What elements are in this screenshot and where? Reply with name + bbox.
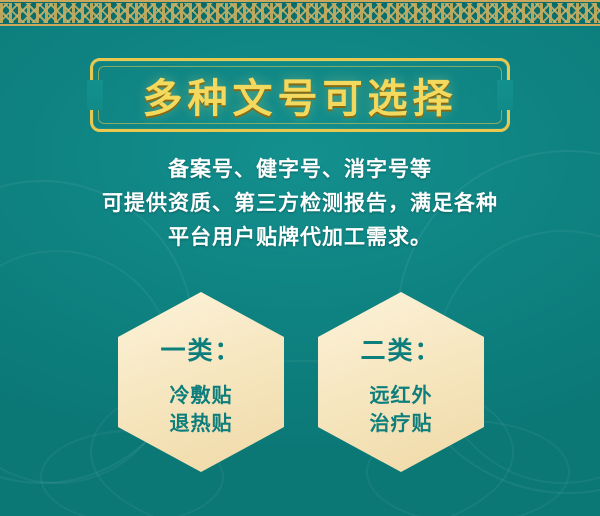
category-card-1-heading: 一类： [160, 331, 241, 367]
category-card-2-item-2: 治疗贴 [370, 409, 433, 437]
category-card-2-heading: 二类： [360, 331, 441, 367]
description-line-3: 平台用户贴牌代加工需求。 [0, 220, 600, 254]
category-card-1-items: 冷敷贴 退热贴 [170, 381, 233, 437]
description-line-2: 可提供资质、第三方检测报告，满足各种 [0, 186, 600, 220]
category-hexagon-row: 一类： 冷敷贴 退热贴 二类： 远红外 治疗贴 [0, 292, 600, 472]
category-card-1-item-2: 退热贴 [170, 409, 233, 437]
poster-canvas: 多种文号可选择 备案号、健字号、消字号等 可提供资质、第三方检测报告，满足各种 … [0, 0, 600, 516]
description-block: 备案号、健字号、消字号等 可提供资质、第三方检测报告，满足各种 平台用户贴牌代加… [0, 152, 600, 254]
border-edge-line [0, 24, 600, 26]
category-card-1: 一类： 冷敷贴 退热贴 [118, 292, 284, 472]
border-weave-pattern [0, 3, 600, 23]
page-title: 多种文号可选择 [90, 58, 510, 132]
description-line-1: 备案号、健字号、消字号等 [0, 152, 600, 186]
category-card-2-item-1: 远红外 [370, 381, 433, 409]
title-plate: 多种文号可选择 [90, 58, 510, 132]
border-edge-line [0, 0, 600, 2]
category-card-1-item-1: 冷敷贴 [170, 381, 233, 409]
category-card-2-items: 远红外 治疗贴 [370, 381, 433, 437]
ornamental-top-border [0, 0, 600, 26]
category-card-2: 二类： 远红外 治疗贴 [318, 292, 484, 472]
